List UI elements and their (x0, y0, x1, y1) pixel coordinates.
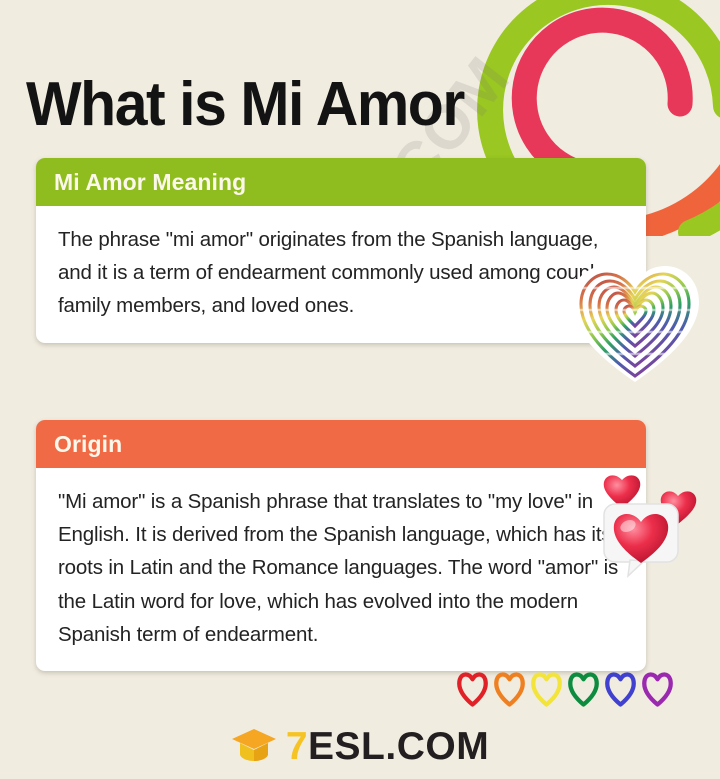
rainbow-heart-row (455, 668, 675, 712)
card-header-origin: Origin (36, 420, 646, 468)
page-title: What is Mi Amor (26, 74, 464, 136)
card-header-label: Mi Amor Meaning (54, 169, 246, 196)
infographic-page: 7ESL.COM What is Mi Amor Mi Amor Meaning… (0, 0, 720, 779)
heart-purple-icon (640, 668, 675, 708)
footer-logo-rest: ESL.COM (308, 727, 489, 766)
footer-logo-seven: 7 (286, 727, 308, 766)
heart-orange-icon (492, 668, 527, 708)
footer-logo-text: 7ESL.COM (286, 727, 489, 766)
card-mi-amor-meaning: Mi Amor Meaning The phrase "mi amor" ori… (36, 158, 646, 343)
card-header-label: Origin (54, 431, 122, 458)
graduation-cap-icon (231, 727, 277, 765)
card-origin: Origin "Mi amor" is a Spanish phrase tha… (36, 420, 646, 671)
heart-blue-icon (603, 668, 638, 708)
heart-green-icon (566, 668, 601, 708)
heart-red-icon (455, 668, 490, 708)
card-body-meaning: The phrase "mi amor" originates from the… (36, 206, 646, 343)
footer-logo[interactable]: 7ESL.COM (0, 722, 720, 770)
card-body-origin: "Mi amor" is a Spanish phrase that trans… (36, 468, 646, 671)
heart-yellow-icon (529, 668, 564, 708)
card-header-meaning: Mi Amor Meaning (36, 158, 646, 206)
